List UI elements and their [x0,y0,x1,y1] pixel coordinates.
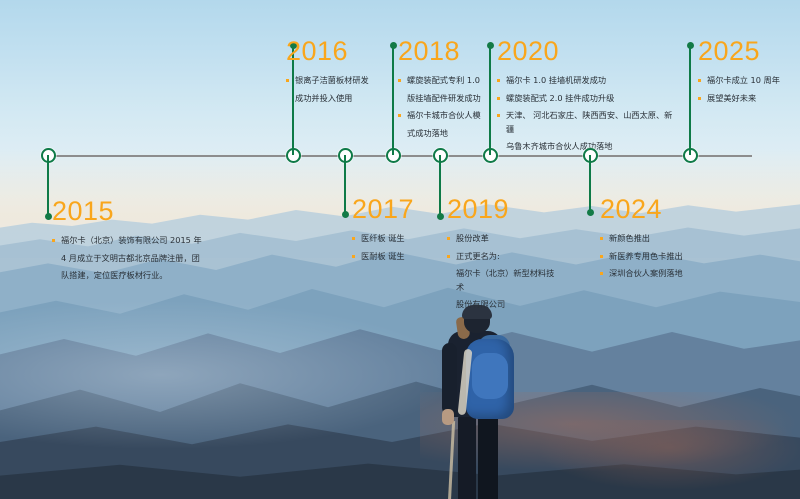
bullet-item: 展望美好未来 [698,92,798,106]
year-label-2020: 2020 [497,38,677,65]
bullet-item: 医纤板 诞生 [352,232,452,246]
bullet-item: 新医养专用色卡推出 [600,250,730,264]
entry-2024[interactable]: 2024新颜色推出新医养专用色卡推出深圳合伙人案例落地 [600,196,730,285]
bullet-list-2024: 新颜色推出新医养专用色卡推出深圳合伙人案例落地 [600,232,730,281]
hiker-figure [420,305,530,499]
year-label-2025: 2025 [698,38,798,65]
year-label-2019: 2019 [447,196,562,223]
bullet-list-2017: 医纤板 诞生医耐板 诞生 [352,232,452,263]
bullet-item-continuation: 股份有限公司 [447,298,562,312]
bullet-item-continuation: 式成功落地 [398,127,503,141]
year-label-2024: 2024 [600,196,730,223]
bullet-item: 正式更名为: [447,250,562,264]
bullet-item-continuation: 福尔卡（北京）新型材料技术 [447,267,562,294]
timeline-stem-2019 [439,155,441,217]
entry-2025[interactable]: 2025福尔卡成立 10 周年展望美好未来 [698,38,798,109]
bullet-item: 医耐板 诞生 [352,250,452,264]
bullet-item: 股份改革 [447,232,562,246]
bullet-item: 新颜色推出 [600,232,730,246]
bullet-item: 螺旋装配式专利 1.0 [398,74,503,88]
bullet-item: 福尔卡（北京）装饰有限公司 2015 年 [52,234,242,248]
timeline-stem-2024 [589,155,591,213]
bullet-list-2019: 股份改革正式更名为:福尔卡（北京）新型材料技术股份有限公司 [447,232,562,312]
timeline-stem-2025 [689,45,691,155]
year-label-2015: 2015 [52,198,242,225]
year-label-2016: 2016 [286,38,386,65]
timeline-stem-2018 [392,45,394,155]
bullet-item: 螺旋装配式 2.0 挂件成功升级 [497,92,677,106]
bullet-list-2016: 银离子洁菌板材研发成功并投入使用 [286,74,386,105]
bullet-item: 天津、 河北石家庄、陕西西安、山西太原、新疆 [497,109,677,136]
entry-2019[interactable]: 2019股份改革正式更名为:福尔卡（北京）新型材料技术股份有限公司 [447,196,562,316]
bullet-item-continuation: 4 月成立于文明古都北京品牌注册，团 [52,252,242,266]
bullet-item-continuation: 成功并投入使用 [286,92,386,106]
bullet-list-2020: 福尔卡 1.0 挂墙机研发成功螺旋装配式 2.0 挂件成功升级天津、 河北石家庄… [497,74,677,154]
bullet-list-2025: 福尔卡成立 10 周年展望美好未来 [698,74,798,105]
timeline-stem-2020 [489,45,491,155]
hiker-trekking-pole [448,421,455,499]
timeline-stem-2017 [344,155,346,215]
entry-2017[interactable]: 2017医纤板 诞生医耐板 诞生 [352,196,452,267]
hiker-leg-right [478,413,498,499]
hiker-hand-left [442,409,454,425]
entry-2015[interactable]: 2015福尔卡（北京）装饰有限公司 2015 年4 月成立于文明古都北京品牌注册… [52,198,242,287]
bullet-list-2018: 螺旋装配式专利 1.0版挂墙配件研发成功福尔卡城市合伙人模式成功落地 [398,74,503,140]
bullet-item: 福尔卡成立 10 周年 [698,74,798,88]
entry-2016[interactable]: 2016银离子洁菌板材研发成功并投入使用 [286,38,386,109]
bullet-item-continuation: 队搭建，定位医疗板材行业。 [52,269,242,283]
bullet-item: 福尔卡城市合伙人模 [398,109,503,123]
hiker-arm-left [442,343,457,415]
bullet-list-2015: 福尔卡（北京）装饰有限公司 2015 年4 月成立于文明古都北京品牌注册，团队搭… [52,234,242,283]
bullet-item-continuation: 版挂墙配件研发成功 [398,92,503,106]
hiker-backpack-panel [472,353,508,399]
sunlit-slope-b [540,420,800,490]
bullet-item: 福尔卡 1.0 挂墙机研发成功 [497,74,677,88]
bullet-item: 银离子洁菌板材研发 [286,74,386,88]
bullet-item: 深圳合伙人案例落地 [600,267,730,281]
entry-2018[interactable]: 2018螺旋装配式专利 1.0版挂墙配件研发成功福尔卡城市合伙人模式成功落地 [398,38,503,144]
valley-haze [0,300,460,450]
entry-2020[interactable]: 2020福尔卡 1.0 挂墙机研发成功螺旋装配式 2.0 挂件成功升级天津、 河… [497,38,677,158]
hiker-leg-left [458,413,476,499]
timeline-stem-2015 [47,155,49,217]
